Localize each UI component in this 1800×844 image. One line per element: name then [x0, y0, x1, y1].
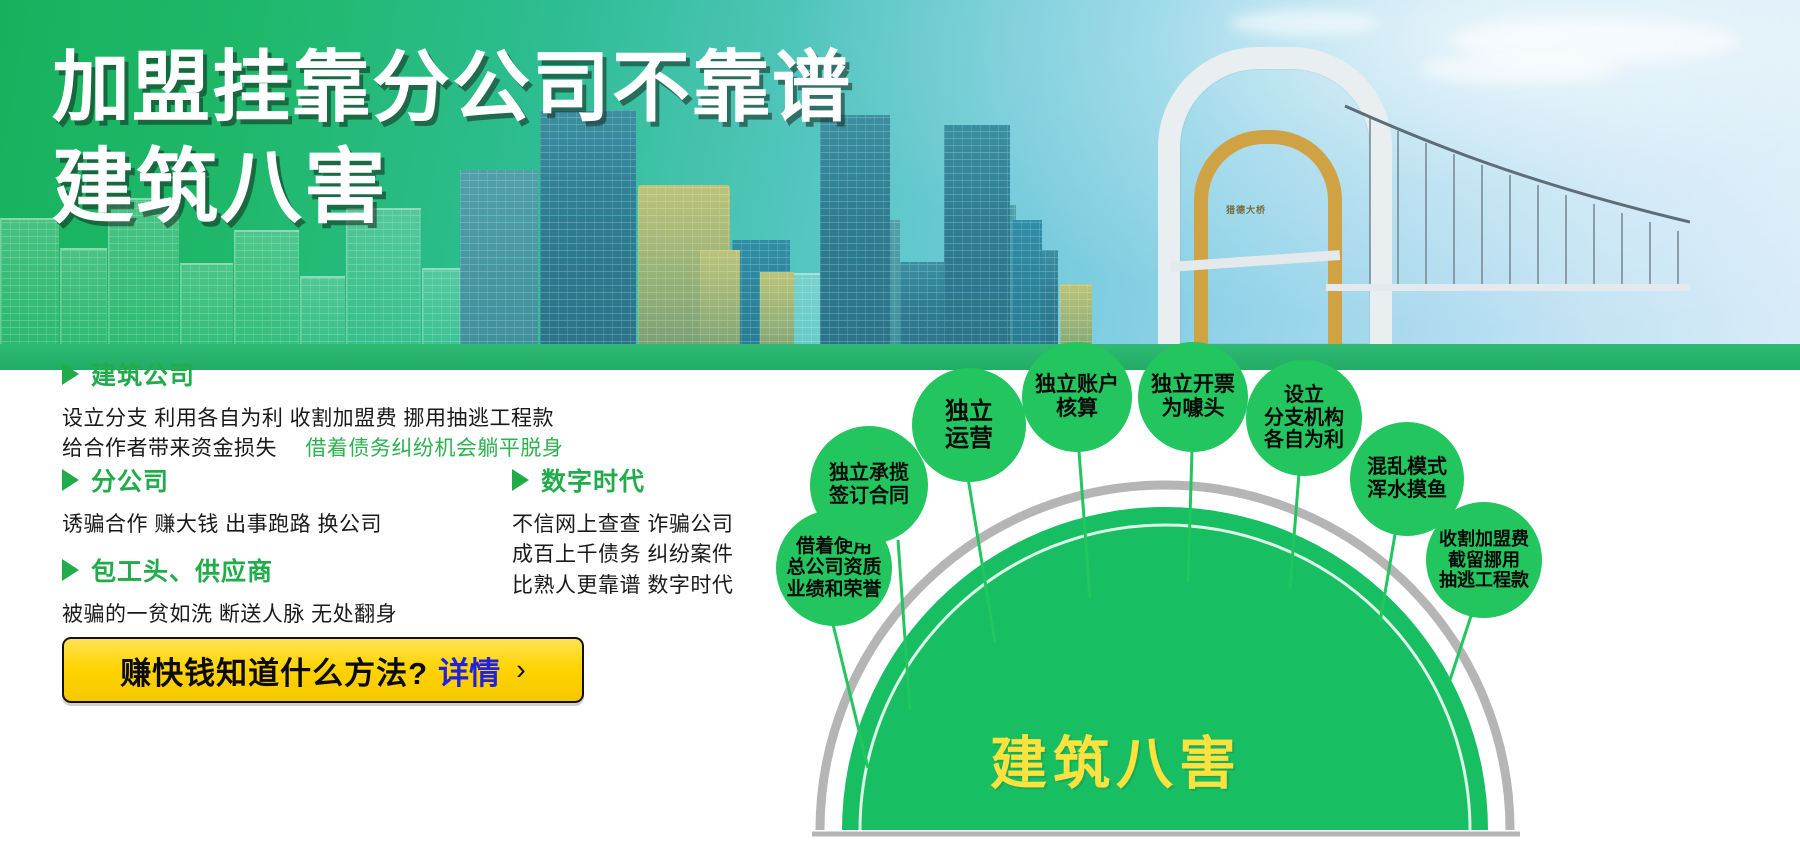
headline-line-2: 建筑八害: [52, 146, 852, 230]
hero-headline: 加盟挂靠分公司不靠谱 建筑八害: [52, 48, 852, 229]
section-construction-company: 建筑公司 设立分支 利用各自为利 收割加盟费 挪用抽逃工程款 给合作者带来资金损…: [62, 356, 563, 464]
poster-root: 猎德大桥 加盟挂靠分公司不靠谱 建筑八害 建筑公司 设立分支 利用各自为利 收割…: [0, 0, 1800, 844]
bubble-line: 浑水摸鱼: [1363, 479, 1451, 502]
chevron-right-icon: ›: [516, 654, 526, 687]
section-header: 建筑公司: [62, 356, 563, 392]
cloud-shape: [1230, 10, 1380, 36]
section-title: 分公司: [91, 462, 169, 498]
section-line: 设立分支 利用各自为利 收割加盟费 挪用抽逃工程款: [62, 404, 563, 434]
triangle-bullet-icon: [512, 469, 529, 491]
landmark-caption: 猎德大桥: [1226, 203, 1266, 216]
section-header: 分公司: [62, 462, 382, 498]
section-line-black: 给合作者带来资金损失: [62, 437, 277, 460]
section-digital-era: 数字时代 不信网上查查 诈骗公司 成百上千债务 纠纷案件 比熟人更靠谱 数字时代: [512, 462, 733, 601]
section-body: 不信网上查查 诈骗公司 成百上千债务 纠纷案件 比熟人更靠谱 数字时代: [512, 510, 733, 601]
bubble-line: 独立开票: [1147, 373, 1239, 397]
bubble-line: 独立承揽: [825, 462, 913, 485]
cta-button[interactable]: 赚快钱知道什么方法? 详情 ›: [62, 637, 584, 703]
section-line: 比熟人更靠谱 数字时代: [512, 571, 733, 601]
bubble-line: 为噱头: [1147, 397, 1239, 421]
bubble-item[interactable]: 独立承揽 签订合同: [810, 426, 928, 544]
bridge-illustration: 猎德大桥: [1130, 44, 1690, 344]
bubble-diagram: 借着使用 总公司资质 业绩和荣誉 独立承揽 签订合同 独立 运营 独立账户 核算: [790, 330, 1800, 844]
triangle-bullet-icon: [62, 363, 79, 385]
triangle-bullet-icon: [62, 559, 79, 581]
bubble-line: 抽逃工程款: [1435, 570, 1533, 591]
bubble-line: 截留挪用: [1435, 550, 1533, 571]
bubble-line: 各自为利: [1260, 429, 1348, 452]
section-line: 不信网上查查 诈骗公司: [512, 510, 733, 540]
section-contractor-supplier: 包工头、供应商 被骗的一贫如洗 断送人脉 无处翻身: [62, 552, 397, 630]
bubble-line: 独立: [941, 398, 997, 425]
section-line-green: 借着债务纠纷机会躺平脱身: [305, 437, 563, 460]
cta-detail-link[interactable]: 详情: [438, 648, 500, 693]
bubble-line: 运营: [941, 425, 997, 452]
section-body: 设立分支 利用各自为利 收割加盟费 挪用抽逃工程款 给合作者带来资金损失 借着债…: [62, 404, 563, 464]
bubble-line: 总公司资质: [782, 557, 885, 579]
bubble-item[interactable]: 独立开票 为噱头: [1138, 342, 1248, 452]
bubble-line: 分支机构: [1260, 407, 1348, 430]
bubble-item[interactable]: 设立 分支机构 各自为利: [1246, 360, 1362, 476]
hero-banner: 猎德大桥 加盟挂靠分公司不靠谱 建筑八害: [0, 0, 1800, 370]
section-body: 诱骗合作 赚大钱 出事跑路 换公司: [62, 510, 382, 540]
headline-line-1: 加盟挂靠分公司不靠谱: [52, 48, 852, 128]
section-title: 数字时代: [541, 462, 645, 498]
triangle-bullet-icon: [62, 469, 79, 491]
bubble-line: 收割加盟费: [1435, 529, 1533, 550]
bubble-line: 设立: [1260, 384, 1348, 407]
dome-center-label: 建筑八害: [990, 718, 1242, 800]
section-title: 包工头、供应商: [91, 552, 273, 588]
section-header: 包工头、供应商: [62, 552, 397, 588]
bubble-line: 独立账户: [1031, 373, 1123, 397]
bubble-item[interactable]: 独立 运营: [912, 368, 1026, 482]
bubble-line: 业绩和荣誉: [782, 579, 885, 601]
section-line: 成百上千债务 纠纷案件: [512, 540, 733, 570]
section-title: 建筑公司: [91, 356, 195, 392]
section-header: 数字时代: [512, 462, 733, 498]
section-body: 被骗的一贫如洗 断送人脉 无处翻身: [62, 600, 397, 630]
left-content: 建筑公司 设立分支 利用各自为利 收割加盟费 挪用抽逃工程款 给合作者带来资金损…: [0, 370, 790, 844]
bubble-line: 核算: [1031, 397, 1123, 421]
bubble-line: 混乱模式: [1363, 456, 1451, 479]
bubble-item[interactable]: 独立账户 核算: [1022, 342, 1132, 452]
cta-question-label: 赚快钱知道什么方法?: [120, 648, 428, 693]
section-branch-company: 分公司 诱骗合作 赚大钱 出事跑路 换公司: [62, 462, 382, 540]
section-line: 给合作者带来资金损失 借着债务纠纷机会躺平脱身: [62, 434, 563, 464]
bubble-item[interactable]: 收割加盟费 截留挪用 抽逃工程款: [1426, 502, 1542, 618]
bubble-line: 签订合同: [825, 485, 913, 508]
